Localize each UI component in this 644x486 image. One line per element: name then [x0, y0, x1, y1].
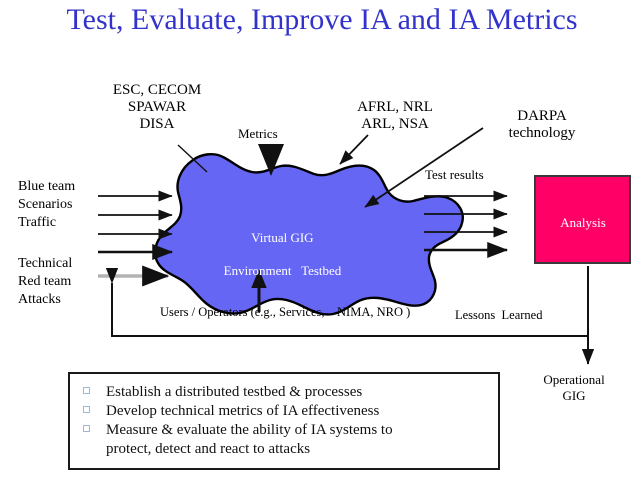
- slide-canvas: Test, Evaluate, Improve IA and IA Metric…: [0, 0, 644, 486]
- summary-bullet-box: Establish a distributed testbed & proces…: [68, 372, 500, 470]
- square-bullet-icon: [83, 406, 90, 413]
- list-item: Develop technical metrics of IA effectiv…: [70, 402, 498, 421]
- input-arrows-black: [98, 196, 172, 252]
- callout-darpa-technology: DARPA technology: [482, 108, 602, 142]
- callout-esc-cecom-spawar-disa: ESC, CECOM SPAWAR DISA: [97, 82, 217, 132]
- list-item: Establish a distributed testbed & proces…: [70, 383, 498, 402]
- label-blue-team-scenarios-traffic: Blue team Scenarios Traffic: [18, 178, 75, 232]
- esc-leader-line: [178, 145, 207, 172]
- output-arrows: [424, 196, 507, 250]
- list-item-text: Develop technical metrics of IA effectiv…: [106, 403, 379, 419]
- callout-metrics: Metrics: [238, 127, 278, 142]
- list-item: Measure & evaluate the ability of IA sys…: [70, 421, 498, 459]
- afrl-arrow: [340, 135, 368, 164]
- blob-label-line2: Environment Testbed: [224, 263, 342, 278]
- blob-label-line1: Virtual GIG: [251, 230, 313, 245]
- label-users-operators: Users / Operators (e.g., Services, NIMA,…: [160, 305, 410, 319]
- label-technical-red-team-attacks: Technical Red team Attacks: [18, 255, 72, 309]
- summary-bullet-list: Establish a distributed testbed & proces…: [70, 374, 498, 459]
- analysis-box-label: Analysis: [533, 216, 633, 231]
- label-operational-gig: Operational GIG: [520, 372, 628, 405]
- square-bullet-icon: [83, 425, 90, 432]
- list-item-text: Establish a distributed testbed & proces…: [106, 384, 362, 400]
- label-lessons-learned: Lessons Learned: [455, 308, 542, 322]
- blob-label: Virtual GIG Environment Testbed: [186, 214, 366, 295]
- callout-afrl-nrl-arl-nsa: AFRL, NRL ARL, NSA: [340, 99, 450, 133]
- label-test-results: Test results: [425, 168, 484, 183]
- square-bullet-icon: [83, 387, 90, 394]
- list-item-text: Measure & evaluate the ability of IA sys…: [106, 422, 393, 457]
- page-title: Test, Evaluate, Improve IA and IA Metric…: [0, 2, 644, 38]
